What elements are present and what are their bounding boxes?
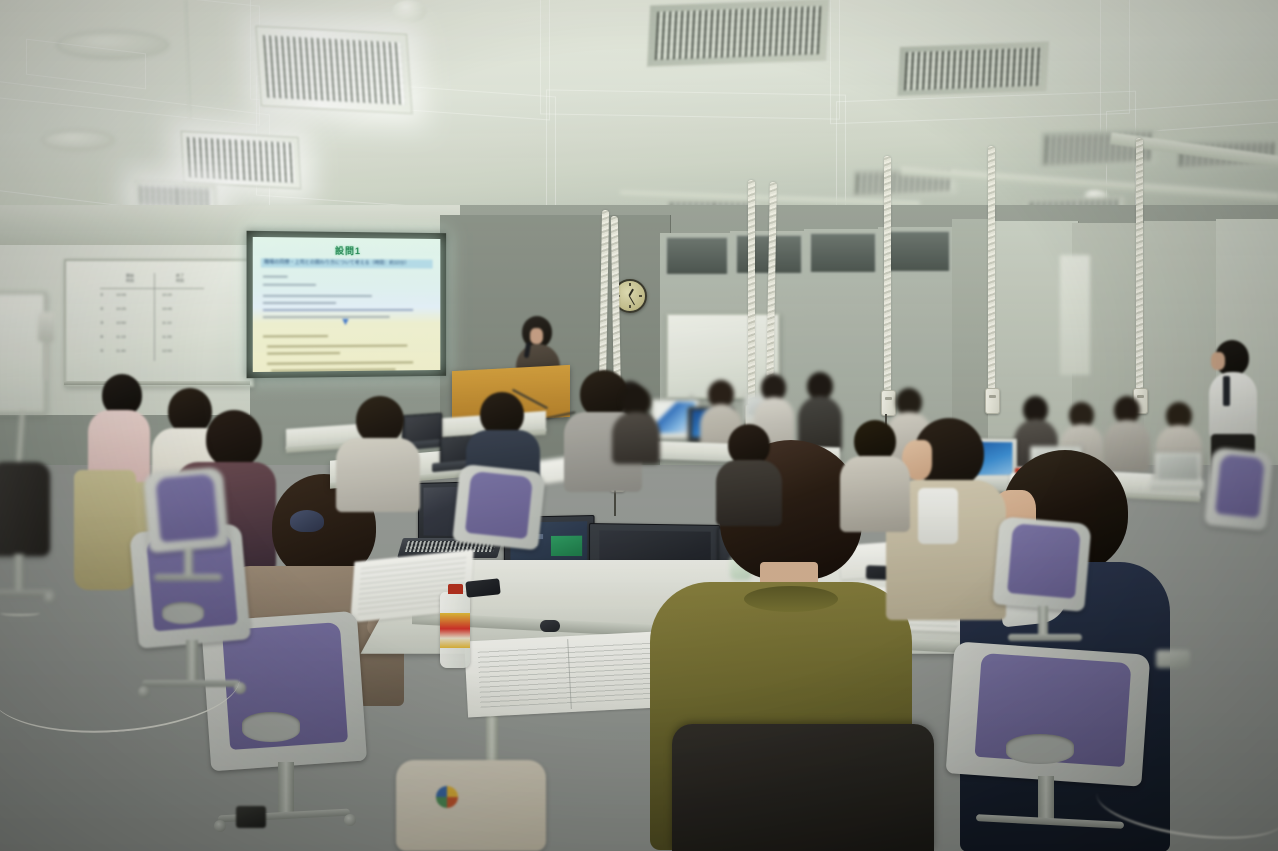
- bag-badge-icon: [436, 786, 458, 808]
- office-chair[interactable]: [990, 520, 1096, 650]
- laptop-screen-green-panel: [551, 535, 582, 556]
- power-cord: [884, 156, 891, 392]
- drink-bottle[interactable]: [440, 592, 470, 668]
- person-back: [798, 372, 842, 450]
- seated-attendee-black-top: [840, 420, 910, 530]
- classroom-photo: 開始 時刻 終了 時刻 ① 10:05 10:20 ② 10:25 10:45 …: [0, 0, 1278, 851]
- inner-shirt: [918, 488, 958, 544]
- torso: [840, 456, 910, 532]
- torso: [1209, 372, 1257, 438]
- office-chair[interactable]: [672, 724, 934, 851]
- seated-attendee-light-top: [336, 396, 420, 510]
- office-chair[interactable]: [140, 470, 232, 590]
- office-chair[interactable]: [936, 648, 1156, 851]
- head: [356, 396, 404, 444]
- power-cord: [988, 146, 995, 390]
- torso: [336, 438, 420, 512]
- tote-bag[interactable]: [396, 760, 546, 851]
- seated-attendee-dark: [716, 424, 782, 524]
- head: [206, 410, 262, 468]
- office-chair[interactable]: [0, 462, 60, 632]
- office-chair[interactable]: [1208, 450, 1278, 570]
- power-outlet-box[interactable]: [985, 388, 1000, 414]
- necktie: [1223, 376, 1230, 406]
- power-adapter: [236, 806, 266, 828]
- hair-tie: [290, 510, 324, 532]
- floor-cable: [0, 610, 40, 616]
- power-adapter: [1156, 650, 1190, 668]
- collar: [744, 586, 838, 612]
- power-cord: [1136, 138, 1143, 390]
- mouse[interactable]: [540, 620, 560, 632]
- power-cord: [748, 180, 755, 406]
- office-chair[interactable]: [452, 468, 548, 558]
- seated-attendee-back: [612, 386, 660, 462]
- power-cord: [766, 182, 777, 396]
- torso: [716, 460, 782, 526]
